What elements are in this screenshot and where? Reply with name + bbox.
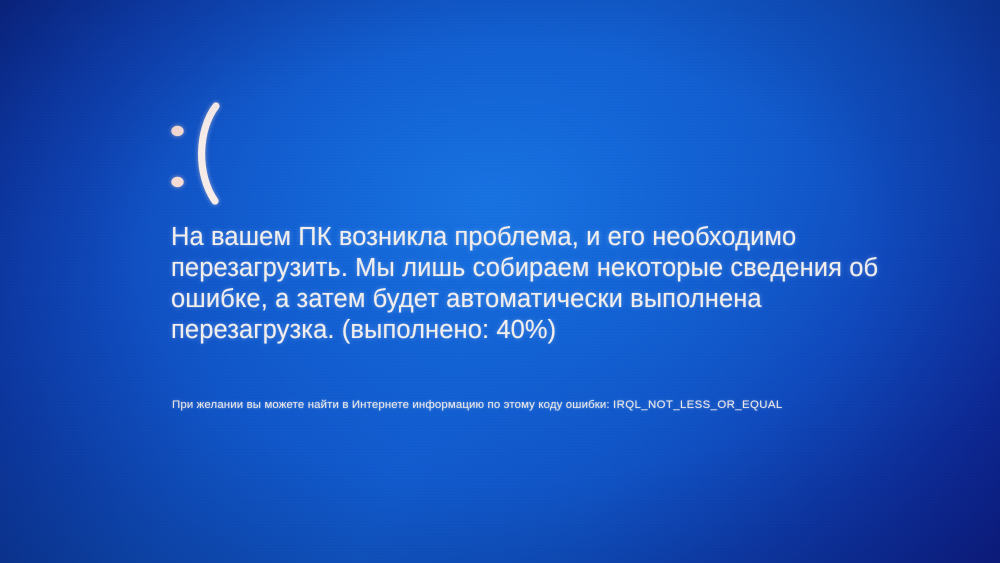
eye-upper-dot-icon — [171, 126, 183, 136]
stop-code-text: IRQL_NOT_LESS_OR_EQUAL — [613, 399, 783, 411]
mouth-paren-arc-icon — [202, 106, 216, 201]
sad-face-emoticon-icon — [168, 98, 268, 208]
footer-info-text: При желании вы можете найти в Интернете … — [172, 399, 610, 411]
bsod-screen: На вашем ПК возникла проблема, и его нео… — [0, 0, 1000, 563]
bsod-message-text: На вашем ПК возникла проблема, и его нео… — [171, 222, 931, 346]
bsod-footer: При желании вы можете найти в Интернете … — [172, 398, 783, 413]
eye-lower-dot-icon — [171, 177, 183, 187]
sad-face-svg — [168, 98, 268, 208]
